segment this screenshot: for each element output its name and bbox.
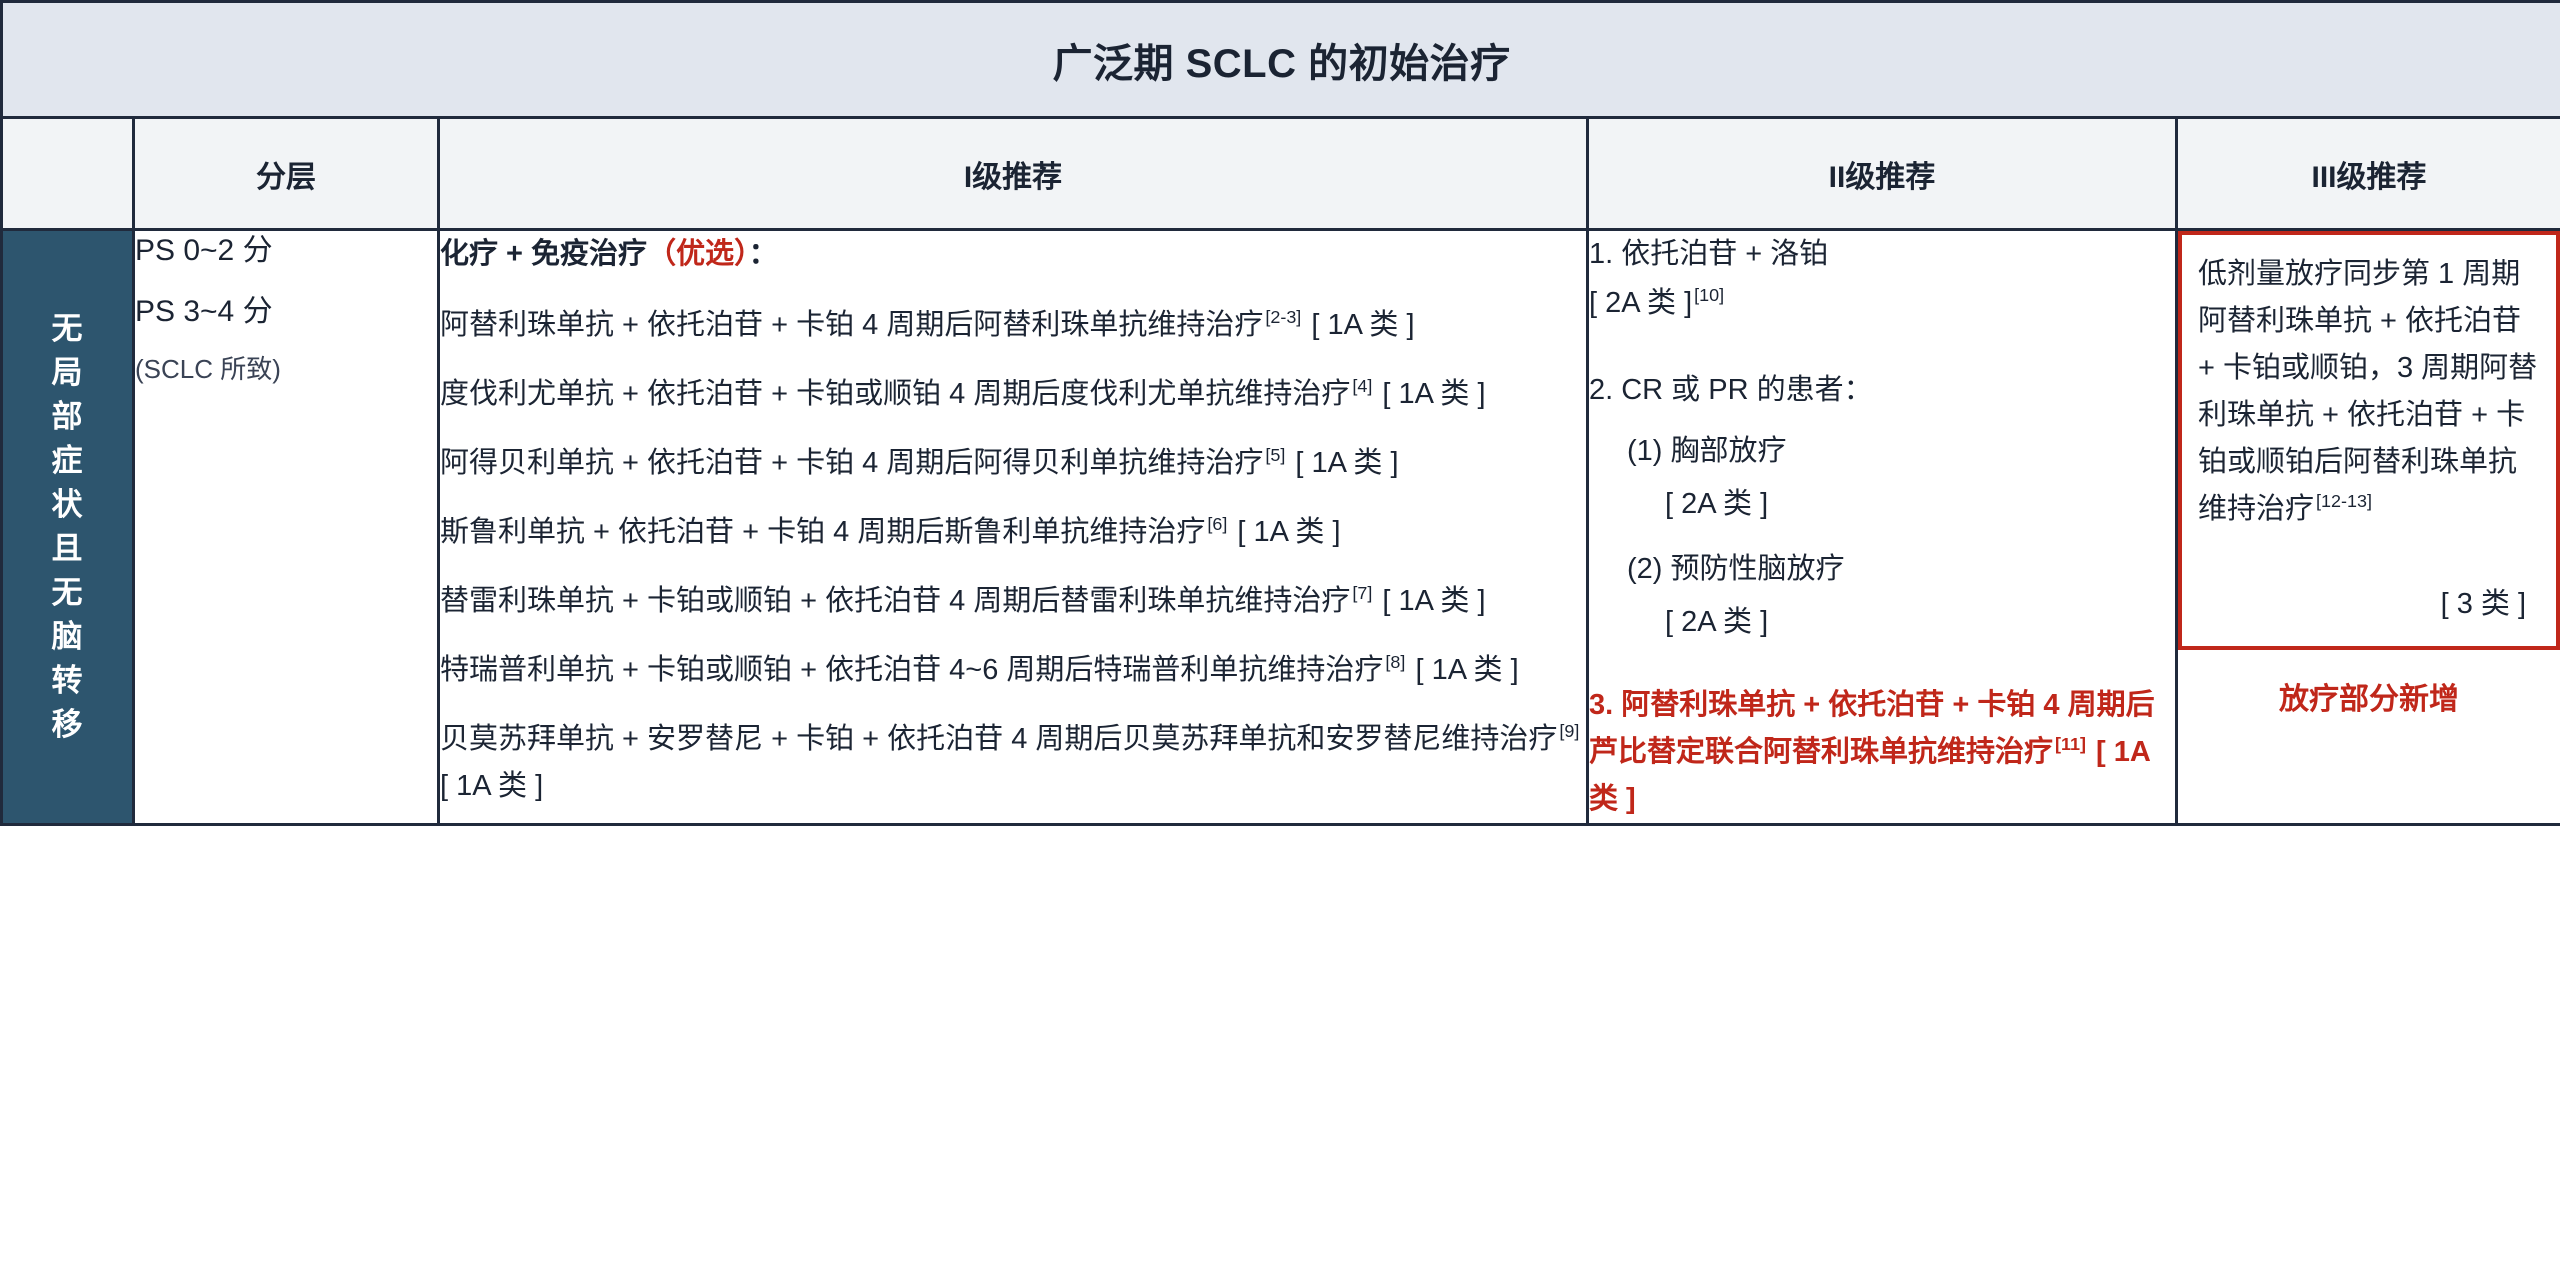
level1-item-text: 斯鲁利单抗 + 依托泊苷 + 卡铂 4 周期后斯鲁利单抗维持治疗 [440, 516, 1205, 548]
reference-marker: [9] [1557, 721, 1581, 741]
level2-item-3: 3. 阿替利珠单抗 + 依托泊苷 + 卡铂 4 周期后芦比替定联合阿替利珠单抗维… [1589, 682, 2175, 823]
level1-item-text: 阿得贝利单抗 + 依托泊苷 + 卡铂 4 周期后阿得贝利单抗维持治疗 [440, 447, 1263, 479]
reference-marker: [2-3] [1263, 307, 1303, 327]
reference-marker: [8] [1383, 652, 1407, 672]
level2-item-1-grade-line: [ 2A 类 ][10] [1589, 280, 2175, 327]
level2-item-2-sub-1: (1) 胸部放疗 [1589, 428, 2175, 475]
level1-item-grade: [ 1A 类 ] [1382, 585, 1485, 617]
level2-item-2-text: 2. CR 或 PR 的患者： [1589, 374, 1873, 406]
level1-item-grade: [ 1A 类 ] [440, 770, 543, 802]
page-title: 广泛期 SCLC 的初始治疗 [2, 2, 2560, 118]
level3-item-text: 低剂量放疗同步第 1 周期阿替利珠单抗 + 依托泊苷 + 卡铂或顺铂，3 周期阿… [2198, 258, 2537, 525]
header-level2-recommendation: II级推荐 [1588, 118, 2177, 230]
level1-heading-accent: （优选） [647, 238, 749, 270]
level2-item-2-sub-2-grade: [ 2A 类 ] [1589, 599, 2175, 646]
level2-item-1: 1. 依托泊苷 + 洛铂 [1589, 231, 2175, 278]
level1-item-text: 阿替利珠单抗 + 依托泊苷 + 卡铂 4 周期后阿替利珠单抗维持治疗 [440, 309, 1263, 341]
level2-item-3-text: 3. 阿替利珠单抗 + 依托泊苷 + 卡铂 4 周期后芦比替定联合阿替利珠单抗维… [1589, 689, 2155, 768]
level1-item: 度伐利尤单抗 + 依托泊苷 + 卡铂或顺铂 4 周期后度伐利尤单抗维持治疗[4]… [440, 371, 1586, 418]
level3-highlight-box: 低剂量放疗同步第 1 周期阿替利珠单抗 + 依托泊苷 + 卡铂或顺铂，3 周期阿… [2178, 231, 2560, 650]
stratification-ps-3-4: PS 3~4 分 [135, 292, 437, 331]
stratification-cell: PS 0~2 分 PS 3~4 分 (SCLC 所致) [134, 230, 439, 825]
level2-item-2-sub-2: (2) 预防性脑放疗 [1589, 546, 2175, 593]
reference-marker: [10] [1692, 285, 1726, 305]
level1-item: 斯鲁利单抗 + 依托泊苷 + 卡铂 4 周期后斯鲁利单抗维持治疗[6] [ 1A… [440, 509, 1586, 556]
level1-heading: 化疗 + 免疫治疗（优选）： [440, 231, 1586, 278]
spacer [1589, 349, 2175, 367]
level1-item-grade: [ 1A 类 ] [1295, 447, 1398, 479]
level2-item-2-sub-1-grade: [ 2A 类 ] [1589, 481, 2175, 528]
level1-item: 阿得贝利单抗 + 依托泊苷 + 卡铂 4 周期后阿得贝利单抗维持治疗[5] [ … [440, 440, 1586, 487]
level1-item: 阿替利珠单抗 + 依托泊苷 + 卡铂 4 周期后阿替利珠单抗维持治疗[2-3] … [440, 302, 1586, 349]
level1-item-grade: [ 1A 类 ] [1311, 309, 1414, 341]
stratification-ps-0-2: PS 0~2 分 [135, 231, 437, 270]
level1-item: 贝莫苏拜单抗 + 安罗替尼 + 卡铂 + 依托泊苷 4 周期后贝莫苏拜单抗和安罗… [440, 716, 1586, 810]
level3-item-grade: [ 3 类 ] [2198, 581, 2540, 628]
level1-heading-colon: ： [749, 238, 778, 270]
header-level1-recommendation: I级推荐 [439, 118, 1588, 230]
level1-heading-main: 化疗 + 免疫治疗 [440, 238, 647, 270]
level3-item: 低剂量放疗同步第 1 周期阿替利珠单抗 + 依托泊苷 + 卡铂或顺铂，3 周期阿… [2198, 251, 2540, 533]
level3-cell: 低剂量放疗同步第 1 周期阿替利珠单抗 + 依托泊苷 + 卡铂或顺铂，3 周期阿… [2177, 230, 2560, 825]
level1-item-grade: [ 1A 类 ] [1382, 378, 1485, 410]
level2-item-1-text: 1. 依托泊苷 + 洛铂 [1589, 238, 1828, 270]
header-level3-recommendation: III级推荐 [2177, 118, 2560, 230]
level1-item-grade: [ 1A 类 ] [1415, 654, 1518, 686]
header-row: 分层 I级推荐 II级推荐 III级推荐 [2, 118, 2560, 230]
level1-item-text: 特瑞普利单抗 + 卡铂或顺铂 + 依托泊苷 4~6 周期后特瑞普利单抗维持治疗 [440, 654, 1383, 686]
header-blank-cell [2, 118, 134, 230]
reference-marker: [11] [2053, 734, 2088, 754]
level2-item-1-grade: [ 2A 类 ] [1589, 287, 1692, 319]
level1-item-grade: [ 1A 类 ] [1237, 516, 1340, 548]
reference-marker: [12-13] [2314, 491, 2374, 511]
reference-marker: [7] [1350, 583, 1374, 603]
spacer [1589, 664, 2175, 682]
level2-item-2: 2. CR 或 PR 的患者： [1589, 367, 2175, 414]
level1-cell: 化疗 + 免疫治疗（优选）： 阿替利珠单抗 + 依托泊苷 + 卡铂 4 周期后阿… [439, 230, 1588, 825]
body-row: 无局部症状且无脑转移 PS 0~2 分 PS 3~4 分 (SCLC 所致) 化… [2, 230, 2560, 825]
level1-item-text: 替雷利珠单抗 + 卡铂或顺铂 + 依托泊苷 4 周期后替雷利珠单抗维持治疗 [440, 585, 1350, 617]
level1-item-text: 贝莫苏拜单抗 + 安罗替尼 + 卡铂 + 依托泊苷 4 周期后贝莫苏拜单抗和安罗… [440, 723, 1557, 755]
reference-marker: [5] [1263, 445, 1287, 465]
level1-item: 特瑞普利单抗 + 卡铂或顺铂 + 依托泊苷 4~6 周期后特瑞普利单抗维持治疗[… [440, 647, 1586, 694]
title-row: 广泛期 SCLC 的初始治疗 [2, 2, 2560, 118]
reference-marker: [6] [1205, 514, 1229, 534]
level2-cell: 1. 依托泊苷 + 洛铂 [ 2A 类 ][10] 2. CR 或 PR 的患者… [1588, 230, 2177, 825]
level3-new-note: 放疗部分新增 [2178, 676, 2560, 725]
guideline-table-page: 广泛期 SCLC 的初始治疗 分层 I级推荐 II级推荐 III级推荐 无局部症… [0, 0, 2560, 1284]
stage-cell: 无局部症状且无脑转移 [2, 230, 134, 825]
level1-item: 替雷利珠单抗 + 卡铂或顺铂 + 依托泊苷 4 周期后替雷利珠单抗维持治疗[7]… [440, 578, 1586, 625]
stage-label: 无局部症状且无脑转移 [51, 307, 85, 747]
header-stratification: 分层 [134, 118, 439, 230]
stratification-note: (SCLC 所致) [135, 353, 437, 387]
reference-marker: [4] [1350, 376, 1374, 396]
guideline-table: 广泛期 SCLC 的初始治疗 分层 I级推荐 II级推荐 III级推荐 无局部症… [0, 0, 2560, 826]
level1-item-text: 度伐利尤单抗 + 依托泊苷 + 卡铂或顺铂 4 周期后度伐利尤单抗维持治疗 [440, 378, 1350, 410]
